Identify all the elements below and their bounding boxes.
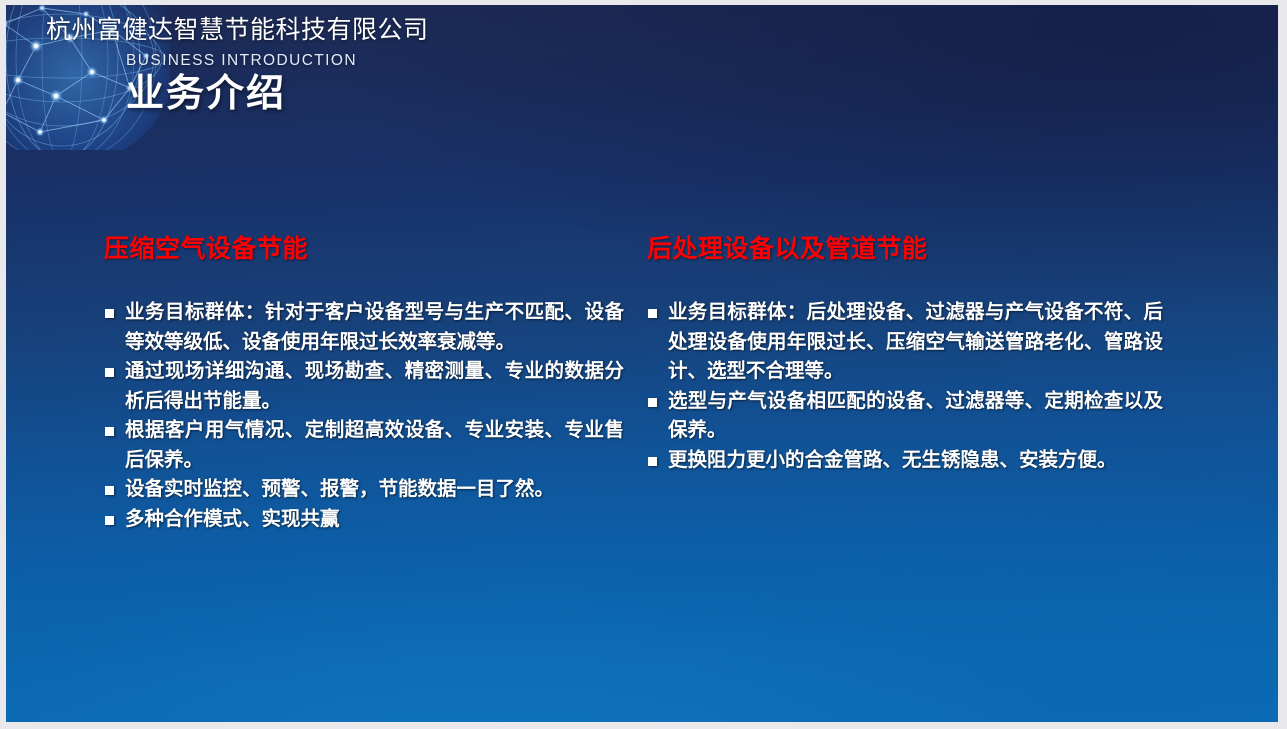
content-column-left: 压缩空气设备节能 业务目标群体：针对于客户设备型号与生产不匹配、设备等效等级低、… (104, 233, 624, 534)
column-heading-left: 压缩空气设备节能 (104, 233, 624, 265)
company-name: 杭州富健达智慧节能科技有限公司 (46, 15, 746, 45)
slide-header: 杭州富健达智慧节能科技有限公司 BUSINESS INTRODUCTION 业务… (46, 15, 746, 117)
slide-frame: 杭州富健达智慧节能科技有限公司 BUSINESS INTRODUCTION 业务… (0, 0, 1287, 729)
bullet-square-icon (105, 427, 114, 436)
bullet-square-icon (648, 398, 657, 407)
bullet-list-right: 业务目标群体：后处理设备、过滤器与产气设备不符、后处理设备使用年限过长、压缩空气… (647, 298, 1163, 475)
bullet-square-icon (105, 516, 114, 525)
list-item: 设备实时监控、预警、报警，节能数据一目了然。 (104, 475, 624, 505)
page-title: 业务介绍 (126, 71, 746, 117)
list-item-text: 设备实时监控、预警、报警，节能数据一目了然。 (125, 478, 554, 500)
content-column-right: 后处理设备以及管道节能 业务目标群体：后处理设备、过滤器与产气设备不符、后处理设… (647, 233, 1163, 475)
bullet-square-icon (648, 309, 657, 318)
list-item: 业务目标群体：后处理设备、过滤器与产气设备不符、后处理设备使用年限过长、压缩空气… (647, 298, 1163, 387)
list-item: 选型与产气设备相匹配的设备、过滤器等、定期检查以及保养。 (647, 387, 1163, 446)
list-item-text: 选型与产气设备相匹配的设备、过滤器等、定期检查以及保养。 (668, 390, 1163, 442)
list-item: 根据客户用气情况、定制超高效设备、专业安装、专业售后保养。 (104, 416, 624, 475)
list-item: 业务目标群体：针对于客户设备型号与生产不匹配、设备等效等级低、设备使用年限过长效… (104, 298, 624, 357)
bullet-square-icon (105, 486, 114, 495)
list-item-text: 多种合作模式、实现共赢 (125, 508, 340, 530)
list-item: 多种合作模式、实现共赢 (104, 505, 624, 535)
list-item: 通过现场详细沟通、现场勘查、精密测量、专业的数据分析后得出节能量。 (104, 357, 624, 416)
list-item-text: 业务目标群体：针对于客户设备型号与生产不匹配、设备等效等级低、设备使用年限过长效… (125, 301, 624, 353)
list-item: 更换阻力更小的合金管路、无生锈隐患、安装方便。 (647, 446, 1163, 476)
slide-canvas: 杭州富健达智慧节能科技有限公司 BUSINESS INTRODUCTION 业务… (6, 5, 1278, 722)
list-item-text: 通过现场详细沟通、现场勘查、精密测量、专业的数据分析后得出节能量。 (125, 360, 624, 412)
column-heading-right: 后处理设备以及管道节能 (647, 233, 1163, 265)
bullet-list-left: 业务目标群体：针对于客户设备型号与生产不匹配、设备等效等级低、设备使用年限过长效… (104, 298, 624, 534)
bullet-square-icon (648, 457, 657, 466)
list-item-text: 根据客户用气情况、定制超高效设备、专业安装、专业售后保养。 (125, 419, 624, 471)
bullet-square-icon (105, 368, 114, 377)
list-item-text: 更换阻力更小的合金管路、无生锈隐患、安装方便。 (668, 449, 1117, 471)
subtitle-english: BUSINESS INTRODUCTION (126, 52, 746, 70)
bullet-square-icon (105, 309, 114, 318)
list-item-text: 业务目标群体：后处理设备、过滤器与产气设备不符、后处理设备使用年限过长、压缩空气… (668, 301, 1163, 382)
